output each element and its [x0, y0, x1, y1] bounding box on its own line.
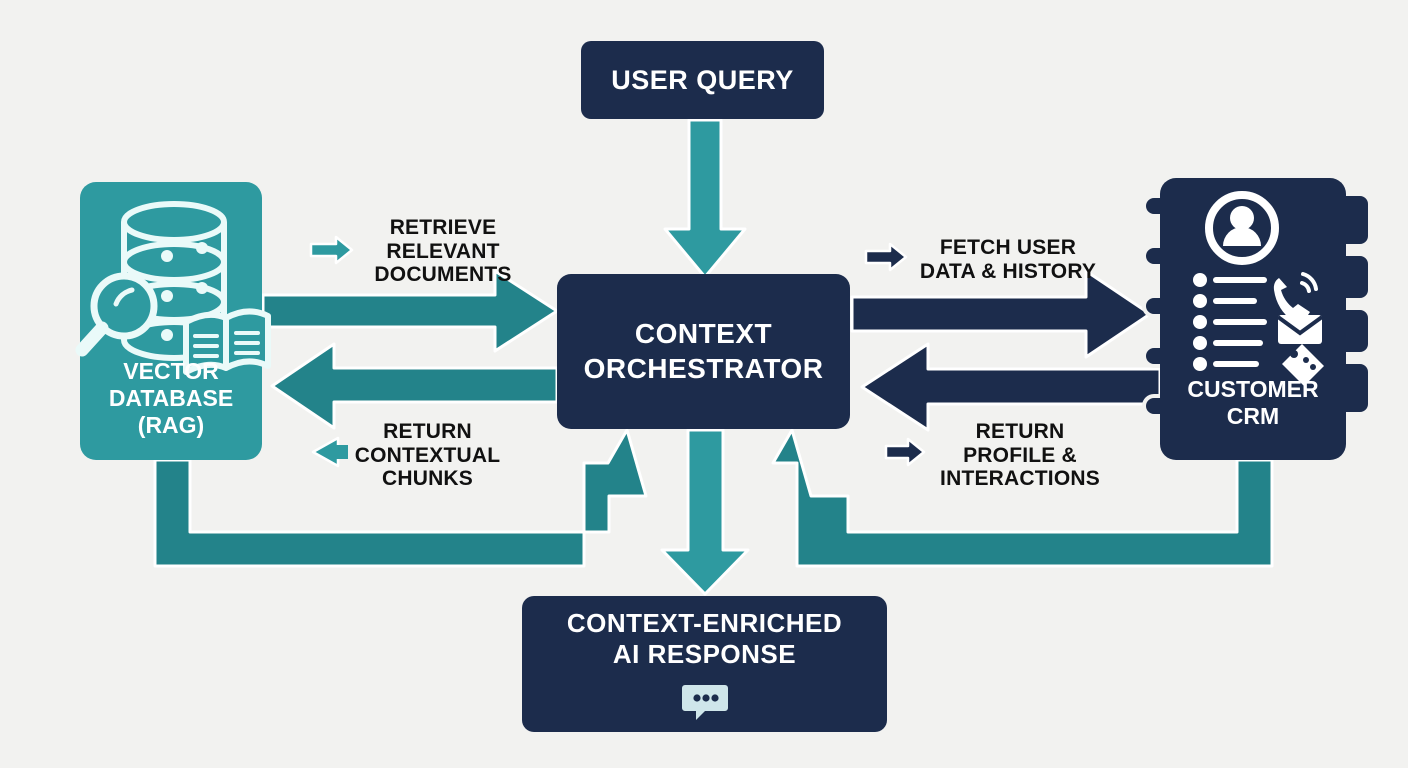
arrow-orchestrator-to-response — [662, 430, 748, 594]
vector-db-label-line1: VECTOR — [123, 358, 218, 384]
node-customer-crm[interactable]: CUSTOMER CRM — [1160, 178, 1346, 460]
arrow-orchestrator-to-crm — [852, 271, 1150, 357]
return-profile-marker-arrow-right-icon — [886, 439, 924, 465]
retrieve-line3: DOCUMENTS — [358, 263, 528, 287]
crm-icon-group — [1182, 188, 1326, 374]
node-context-orchestrator[interactable]: CONTEXT ORCHESTRATOR — [557, 274, 850, 429]
return-profile-line1: RETURN — [920, 420, 1120, 444]
node-vector-database[interactable]: VECTOR DATABASE (RAG) — [80, 182, 262, 460]
db-dot — [196, 282, 208, 294]
diagram-canvas: USER QUERY CONTEXT ORCHESTRATOR — [0, 0, 1408, 768]
vector-db-label-line2: DATABASE — [109, 385, 233, 411]
return-profile-line2: PROFILE & — [920, 444, 1120, 468]
response-label-line1: CONTEXT-ENRICHED — [567, 608, 842, 639]
db-dot — [161, 250, 173, 262]
envelope-icon — [1278, 315, 1322, 344]
person-avatar-icon — [1209, 195, 1275, 261]
return-chunks-line3: CHUNKS — [340, 467, 515, 491]
db-dot — [196, 242, 208, 254]
arrow-crm-to-orchestrator — [862, 344, 1160, 430]
crm-side-tabs-icon — [1340, 192, 1382, 432]
crm-label-line1: CUSTOMER — [1187, 376, 1318, 402]
return-chunks-line1: RETURN — [340, 420, 515, 444]
retrieve-line1: RETRIEVE — [358, 216, 528, 240]
db-dot — [161, 329, 173, 341]
node-context-enriched-ai-response[interactable]: CONTEXT-ENRICHED AI RESPONSE — [522, 596, 887, 732]
vector-db-label-line3: (RAG) — [138, 412, 204, 438]
response-label-line2: AI RESPONSE — [613, 639, 796, 670]
return-profile-line3: INTERACTIONS — [920, 467, 1120, 491]
fetch-marker-arrow-right-icon — [866, 244, 906, 270]
orchestrator-label-line1: CONTEXT — [635, 317, 772, 351]
fetch-line1: FETCH USER — [908, 236, 1108, 260]
return-chunks-line2: CONTEXTUAL — [340, 444, 515, 468]
user-query-label: USER QUERY — [611, 65, 794, 96]
edge-label-return-contextual-chunks: RETURN CONTEXTUAL CHUNKS — [340, 420, 515, 491]
edge-label-return-profile-interactions: RETURN PROFILE & INTERACTIONS — [920, 420, 1120, 491]
vector-db-label-group: VECTOR DATABASE (RAG) — [80, 358, 262, 439]
retrieve-line2: RELEVANT — [358, 240, 528, 264]
arrow-orchestrator-to-db — [272, 344, 557, 428]
contact-list-icon — [1193, 273, 1264, 371]
return-chunks-marker-arrow-left-icon — [313, 438, 338, 466]
magnifier-icon — [82, 276, 154, 350]
vector-db-icon-group — [94, 190, 250, 358]
node-user-query[interactable]: USER QUERY — [581, 41, 824, 119]
arrow-user-query-to-orchestrator — [665, 120, 745, 277]
retrieve-marker-arrow-right-icon — [311, 237, 352, 263]
chat-bubble-icon — [681, 682, 729, 720]
orchestrator-label-line2: ORCHESTRATOR — [584, 352, 824, 386]
edge-label-retrieve-relevant-documents: RETRIEVE RELEVANT DOCUMENTS — [358, 216, 528, 287]
fetch-line2: DATA & HISTORY — [908, 260, 1108, 284]
crm-label-line2: CRM — [1227, 403, 1279, 429]
edge-label-fetch-user-data-history: FETCH USER DATA & HISTORY — [908, 236, 1108, 283]
db-dot — [161, 290, 173, 302]
crm-label-group: CUSTOMER CRM — [1160, 376, 1346, 430]
